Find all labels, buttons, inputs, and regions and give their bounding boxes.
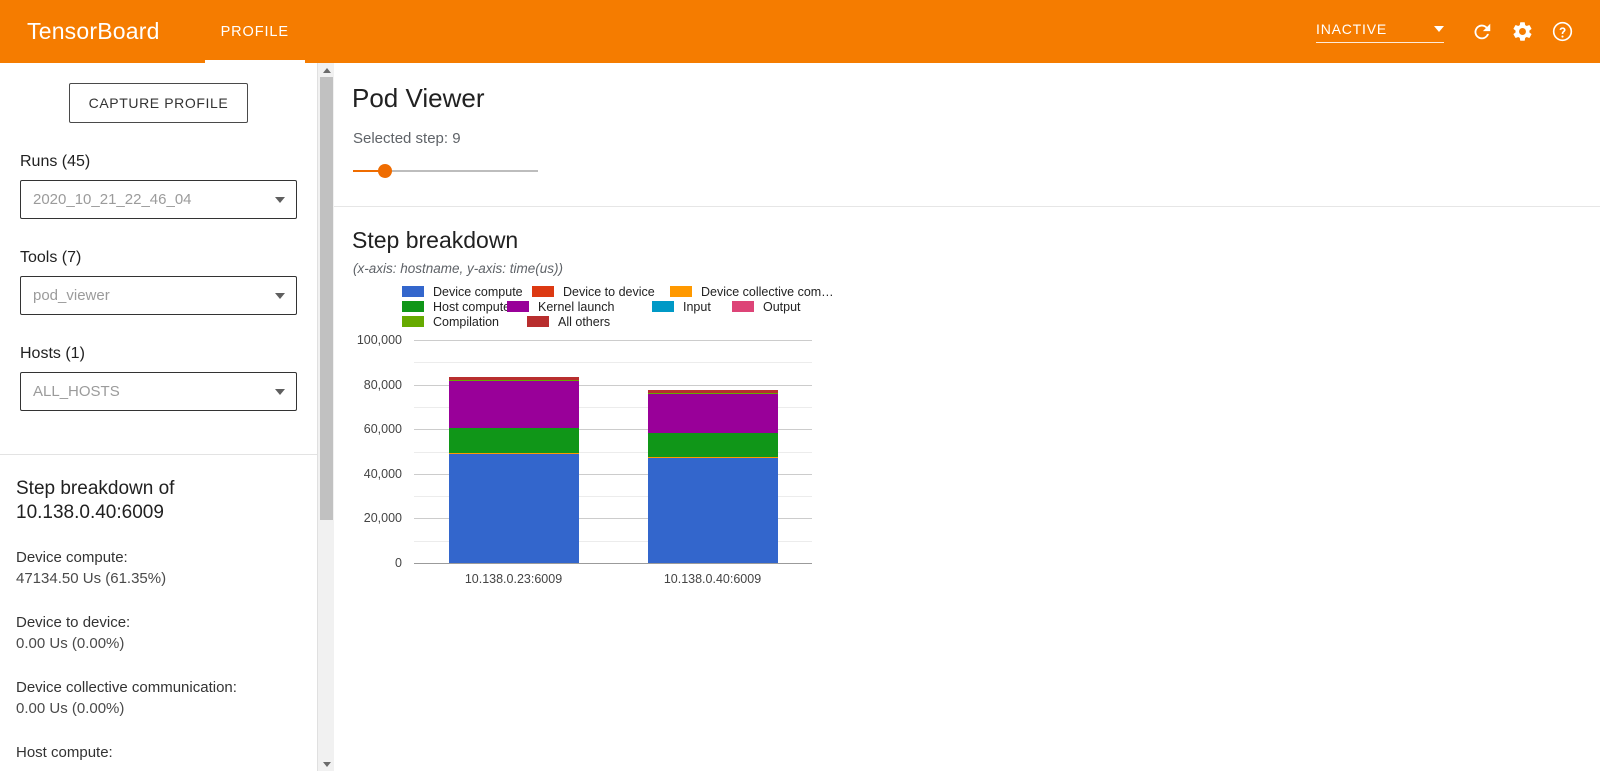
- refresh-icon: [1471, 21, 1493, 43]
- step-breakdown-chart: Device computeDevice to deviceDevice col…: [352, 284, 1202, 584]
- tools-field: Tools (7) pod_viewer: [20, 249, 297, 315]
- detail-item: Device compute: 47134.50 Us (61.35%): [16, 548, 301, 590]
- chevron-up-icon: [323, 68, 331, 73]
- chevron-down-icon: [1434, 26, 1444, 32]
- hosts-field: Hosts (1) ALL_HOSTS: [20, 345, 297, 411]
- step-breakdown-detail-title: Step breakdown of 10.138.0.40:6009: [16, 477, 301, 525]
- top-bar-actions: INACTIVE: [1316, 12, 1582, 52]
- legend-item[interactable]: Device to device: [532, 285, 655, 299]
- legend-row: Device computeDevice to deviceDevice col…: [402, 284, 872, 299]
- main-content: Pod Viewer Selected step: 9 Step breakdo…: [334, 63, 1600, 771]
- gear-icon: [1511, 20, 1534, 43]
- tools-selected-value: pod_viewer: [33, 287, 110, 304]
- runs-field: Runs (45) 2020_10_21_22_46_04: [20, 153, 297, 219]
- step-slider[interactable]: [353, 161, 538, 181]
- bar-stack[interactable]: [449, 340, 579, 563]
- chevron-down-icon: [275, 197, 285, 203]
- detail-key: Device compute:: [16, 548, 301, 568]
- sidebar-divider: [0, 454, 317, 455]
- bar-segment[interactable]: [648, 394, 778, 434]
- y-axis-tick-label: 40,000: [340, 467, 402, 481]
- bar-segment[interactable]: [648, 457, 778, 458]
- run-status-value: INACTIVE: [1316, 21, 1387, 37]
- tab-profile[interactable]: PROFILE: [205, 0, 305, 63]
- sidebar-scrollbar[interactable]: [317, 63, 335, 771]
- app-brand: TensorBoard: [27, 18, 160, 45]
- detail-item: Device collective communication: 0.00 Us…: [16, 678, 301, 720]
- legend-item[interactable]: Input: [652, 300, 711, 314]
- legend-row: CompilationAll others: [402, 314, 872, 329]
- legend-label: Compilation: [433, 315, 499, 329]
- chevron-down-icon: [323, 762, 331, 767]
- legend-swatch: [670, 286, 692, 297]
- help-button[interactable]: [1542, 12, 1582, 52]
- y-axis-tick-label: 80,000: [340, 378, 402, 392]
- legend-label: Kernel launch: [538, 300, 614, 314]
- chevron-down-icon: [275, 293, 285, 299]
- bar-segment[interactable]: [449, 377, 579, 379]
- legend-label: Device to device: [563, 285, 655, 299]
- hosts-selected-value: ALL_HOSTS: [33, 383, 120, 400]
- legend-swatch: [532, 286, 554, 297]
- bar-segment[interactable]: [648, 458, 778, 563]
- legend-label: Output: [763, 300, 801, 314]
- detail-value: 0.00 Us (0.00%): [16, 633, 301, 655]
- legend-item[interactable]: Device compute: [402, 285, 523, 299]
- legend-label: Device collective com…: [701, 285, 834, 299]
- run-status-dropdown[interactable]: INACTIVE: [1316, 21, 1444, 43]
- legend-swatch: [507, 301, 529, 312]
- detail-value: 0.00 Us (0.00%): [16, 698, 301, 720]
- detail-value: 47134.50 Us (61.35%): [16, 568, 301, 590]
- y-axis-tick-label: 20,000: [340, 511, 402, 525]
- chart-plot-area: 020,00040,00060,00080,000100,00010.138.0…: [352, 330, 1202, 584]
- runs-label: Runs (45): [20, 153, 297, 171]
- scroll-up-button[interactable]: [318, 63, 335, 77]
- section-divider: [334, 206, 1600, 207]
- y-axis-tick-label: 0: [340, 556, 402, 570]
- legend-swatch: [402, 301, 424, 312]
- legend-swatch: [402, 316, 424, 327]
- refresh-button[interactable]: [1462, 12, 1502, 52]
- capture-profile-button[interactable]: CAPTURE PROFILE: [69, 83, 249, 123]
- scrollbar-thumb[interactable]: [320, 77, 333, 520]
- page-title: Pod Viewer: [352, 83, 1600, 114]
- bar-stack[interactable]: [648, 340, 778, 563]
- scroll-down-button[interactable]: [318, 757, 335, 771]
- legend-label: Host compute: [433, 300, 510, 314]
- legend-item[interactable]: Compilation: [402, 315, 499, 329]
- runs-select[interactable]: 2020_10_21_22_46_04: [20, 180, 297, 219]
- bar-segment[interactable]: [449, 381, 579, 428]
- legend-item[interactable]: Output: [732, 300, 801, 314]
- legend-item[interactable]: All others: [527, 315, 610, 329]
- legend-swatch: [527, 316, 549, 327]
- selected-step-label: Selected step: 9: [353, 130, 1600, 147]
- bar-segment[interactable]: [648, 433, 778, 457]
- detail-item: Device to device: 0.00 Us (0.00%): [16, 613, 301, 655]
- legend-item[interactable]: Kernel launch: [507, 300, 614, 314]
- x-axis-tick-label: 10.138.0.23:6009: [424, 572, 604, 586]
- x-axis-tick-label: 10.138.0.40:6009: [623, 572, 803, 586]
- section-title: Step breakdown: [352, 227, 1600, 254]
- chevron-down-icon: [275, 389, 285, 395]
- legend-swatch: [652, 301, 674, 312]
- y-axis-tick-label: 100,000: [340, 333, 402, 347]
- hosts-label: Hosts (1): [20, 345, 297, 363]
- legend-swatch: [732, 301, 754, 312]
- tools-label: Tools (7): [20, 249, 297, 267]
- hosts-select[interactable]: ALL_HOSTS: [20, 372, 297, 411]
- legend-label: Input: [683, 300, 711, 314]
- runs-selected-value: 2020_10_21_22_46_04: [33, 191, 192, 208]
- bar-segment[interactable]: [648, 393, 778, 394]
- section-subtitle: (x-axis: hostname, y-axis: time(us)): [353, 261, 1600, 276]
- x-axis-line: [414, 563, 812, 564]
- tools-select[interactable]: pod_viewer: [20, 276, 297, 315]
- top-app-bar: TensorBoard PROFILE INACTIVE: [0, 0, 1600, 63]
- settings-button[interactable]: [1502, 12, 1542, 52]
- legend-item[interactable]: Host compute: [402, 300, 510, 314]
- chart-legend: Device computeDevice to deviceDevice col…: [402, 284, 872, 329]
- legend-label: Device compute: [433, 285, 523, 299]
- bar-segment[interactable]: [648, 390, 778, 392]
- detail-key: Device to device:: [16, 613, 301, 633]
- legend-item[interactable]: Device collective com…: [670, 285, 834, 299]
- help-icon: [1551, 20, 1574, 43]
- sidebar: CAPTURE PROFILE Runs (45) 2020_10_21_22_…: [0, 63, 317, 771]
- legend-swatch: [402, 286, 424, 297]
- slider-thumb[interactable]: [378, 164, 392, 178]
- capture-profile-row: CAPTURE PROFILE: [0, 63, 317, 123]
- detail-key: Device collective communication:: [16, 678, 301, 698]
- bar-segment[interactable]: [449, 380, 579, 381]
- bar-segment[interactable]: [449, 453, 579, 455]
- detail-key: Host compute:: [16, 743, 301, 763]
- legend-label: All others: [558, 315, 610, 329]
- legend-row: Host computeKernel launchInputOutput: [402, 299, 872, 314]
- detail-item: Host compute:: [16, 743, 301, 763]
- bar-segment[interactable]: [449, 428, 579, 453]
- y-axis-tick-label: 60,000: [340, 422, 402, 436]
- bar-segment[interactable]: [449, 454, 579, 563]
- nav-tabs: PROFILE: [205, 0, 305, 63]
